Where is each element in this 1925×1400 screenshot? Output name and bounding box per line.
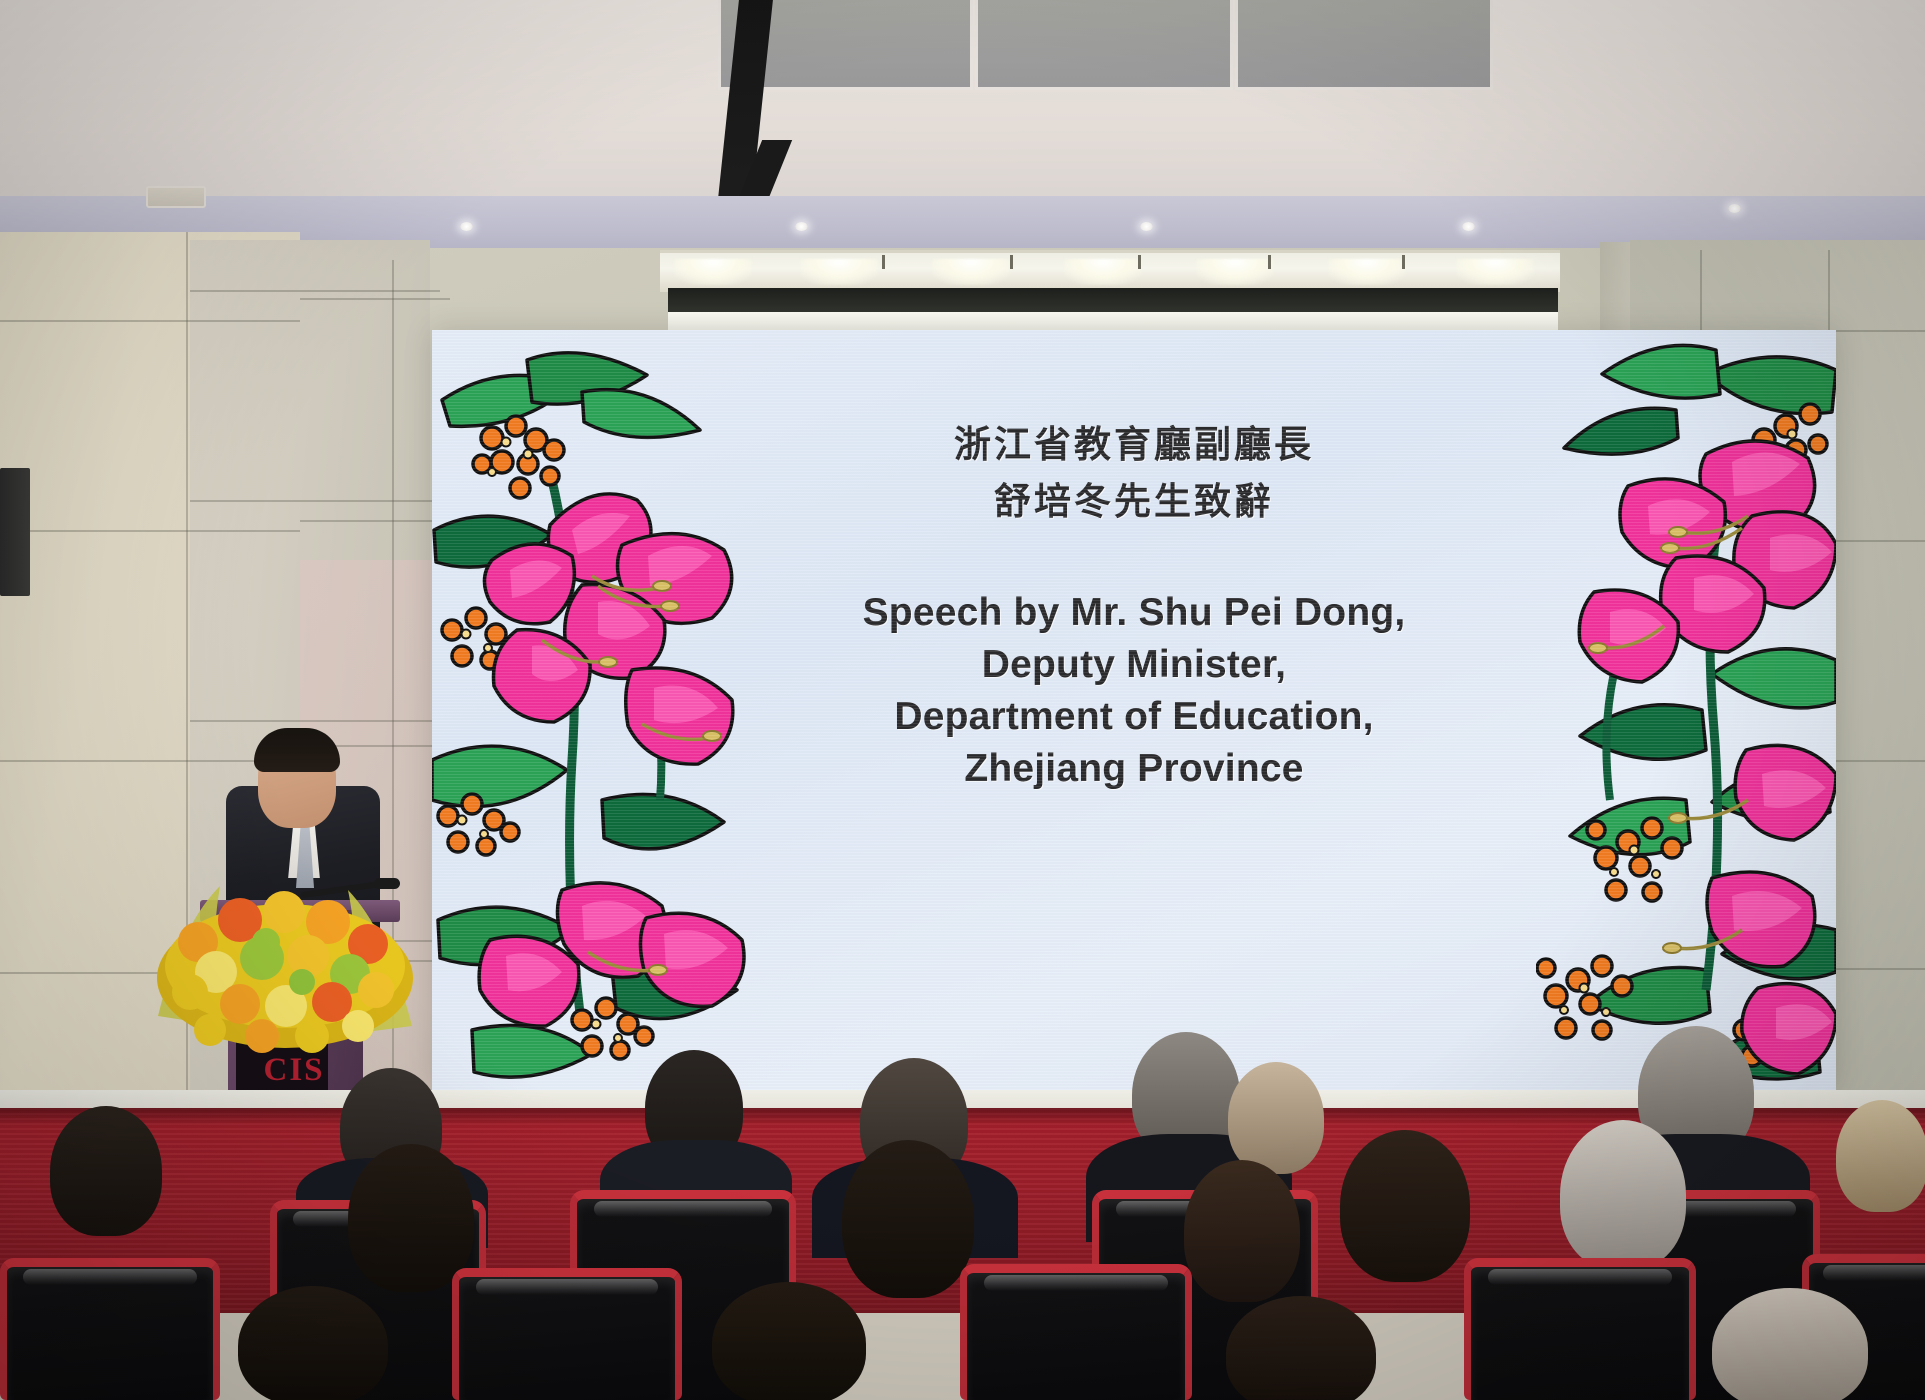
audience-head [1226,1296,1376,1400]
audience-head [1340,1130,1470,1282]
valance-downlight [800,259,878,285]
seat[interactable] [0,1258,220,1400]
ceiling-downlight-3 [1140,222,1153,231]
seat-highlight [594,1201,772,1217]
podium-floral-arrangement [150,846,420,1056]
ceiling-square-light [146,186,206,208]
valance-divider [1402,255,1405,269]
audience-head [842,1140,974,1298]
ceiling-downlight-5 [1728,204,1741,213]
ceiling-downlight-2 [795,222,808,231]
wall-mounted-loudspeaker [0,468,30,596]
ceiling-vent-grille-2 [975,0,1233,90]
valance-downlight [1064,259,1142,285]
audience-head [1228,1062,1324,1174]
wall-tile-joint [190,500,440,502]
valance-divider [1138,255,1141,269]
valance-divider [1268,255,1271,269]
slide-english-line-2: Deputy Minister, [754,639,1514,691]
presentation-screen: 浙江省教育廳副廳長 舒培冬先生致辭 Speech by Mr. Shu Pei … [432,330,1836,1090]
audience-head [50,1106,162,1236]
wall-tile-joint [300,298,450,300]
floral-border-right [1536,330,1836,1090]
slide-chinese-line-1: 浙江省教育廳副廳長 [754,416,1514,473]
valance-divider [1010,255,1013,269]
screen-light-valance [660,250,1560,292]
seat[interactable] [960,1264,1192,1400]
audience-head [1712,1288,1868,1400]
wall-tile-joint [0,320,300,322]
audience-head [1836,1100,1925,1212]
audience-head [348,1144,474,1292]
seat[interactable] [1464,1258,1696,1400]
audience-head [712,1282,866,1400]
slide-english-line-3: Department of Education, [754,691,1514,743]
valance-downlight [1196,259,1274,285]
slide-english-line-4: Zhejiang Province [754,743,1514,795]
floral-border-left [432,330,762,1090]
podium-logo-text: CIS [248,1052,340,1089]
audience-head [1184,1160,1300,1302]
speaker-hair [254,728,340,772]
audience-head [238,1286,388,1400]
seat-highlight [23,1269,196,1285]
ceiling-downlight-1 [460,222,473,231]
seat-highlight [476,1279,657,1295]
slide-chinese-line-2: 舒培冬先生致辭 [754,473,1514,530]
wall-tile-joint [300,520,450,522]
seat-highlight [1823,1265,1925,1281]
seat-highlight [1488,1269,1671,1285]
slide-english-line-1: Speech by Mr. Shu Pei Dong, [754,587,1514,639]
slide-english-block: Speech by Mr. Shu Pei Dong, Deputy Minis… [754,587,1514,796]
valance-downlight [932,259,1010,285]
slide-text-block: 浙江省教育廳副廳長 舒培冬先生致辭 Speech by Mr. Shu Pei … [754,416,1514,796]
audience-head [1560,1120,1686,1270]
wall-tile-joint [190,720,440,722]
valance-downlight [674,259,752,285]
seat[interactable] [452,1268,682,1400]
valance-downlight [1456,259,1534,285]
ceiling-vent-grille-3 [1235,0,1493,90]
seat-highlight [984,1275,1167,1291]
valance-downlight [1328,259,1406,285]
screen-top-housing [668,288,1558,314]
wall-tile-joint [0,530,300,532]
wall-tile-joint [190,290,440,292]
valance-divider [882,255,885,269]
ceiling-downlight-4 [1462,222,1475,231]
auditorium-scene: 浙江省教育廳副廳長 舒培冬先生致辭 Speech by Mr. Shu Pei … [0,0,1925,1400]
